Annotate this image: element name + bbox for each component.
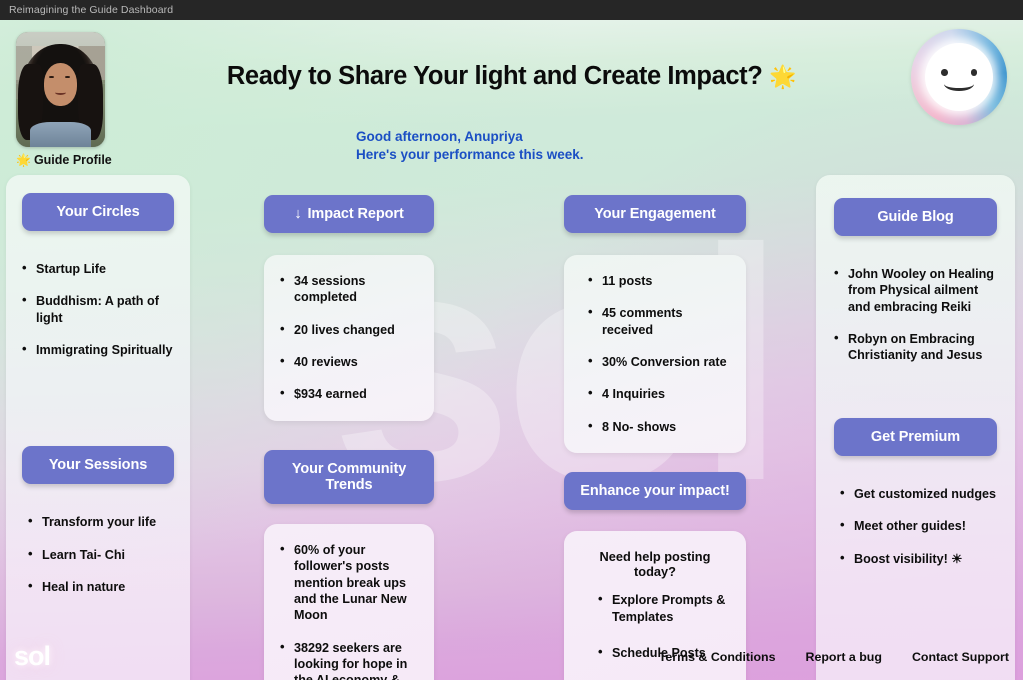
sol-smiley-logo-icon[interactable] xyxy=(911,29,1007,125)
list-item: 34 sessions completed xyxy=(280,273,418,306)
column-blog-premium: Guide Blog John Wooley on Healing from P… xyxy=(808,175,1023,680)
star-icon: 🌟 xyxy=(16,153,31,167)
enhance-impact-button[interactable]: Enhance your impact! xyxy=(564,472,746,510)
impact-report-label: Impact Report xyxy=(307,206,403,222)
list-item: Boost visibility! ☀ xyxy=(840,551,997,567)
sessions-list: Transform your life Learn Tai- Chi Heal … xyxy=(22,514,174,595)
engagement-list: 11 posts 45 comments received 30% Conver… xyxy=(580,273,730,435)
your-sessions-button[interactable]: Your Sessions xyxy=(22,446,174,484)
greeting-block: Good afternoon, Anupriya Here's your per… xyxy=(356,128,584,164)
column-engagement-enhance: Your Engagement 11 posts 45 comments rec… xyxy=(502,175,808,680)
circles-list: Startup Life Buddhism: A path of light I… xyxy=(22,261,174,358)
profile-block[interactable]: 🌟 Guide Profile xyxy=(16,32,108,167)
column-impact-trends: ↓Impact Report 34 sessions completed 20 … xyxy=(196,175,502,680)
footer-link-terms[interactable]: Terms & Conditions xyxy=(659,650,776,664)
list-item: 11 posts xyxy=(588,273,730,289)
profile-label-text: Guide Profile xyxy=(34,153,112,167)
greeting-line-2: Here's your performance this week. xyxy=(356,146,584,164)
impact-report-card: 34 sessions completed 20 lives changed 4… xyxy=(264,255,434,421)
list-item[interactable]: Startup Life xyxy=(22,261,174,277)
list-item[interactable]: Explore Prompts & Templates xyxy=(598,592,730,625)
list-item[interactable]: Learn Tai- Chi xyxy=(28,547,174,563)
page-title: Ready to Share Your light and Create Imp… xyxy=(0,62,1023,91)
dashboard-footer: sol Terms & Conditions Report a bug Cont… xyxy=(0,633,1023,680)
window-title: Reimagining the Guide Dashboard xyxy=(9,4,173,16)
column-circles-sessions: Your Circles Startup Life Buddhism: A pa… xyxy=(0,175,196,680)
list-item: 20 lives changed xyxy=(280,322,418,338)
window-titlebar: Reimagining the Guide Dashboard xyxy=(0,0,1023,20)
footer-link-report-bug[interactable]: Report a bug xyxy=(806,650,882,664)
footer-link-contact-support[interactable]: Contact Support xyxy=(912,650,1009,664)
list-item: 8 No- shows xyxy=(588,419,730,435)
list-item: 60% of your follower's posts mention bre… xyxy=(280,542,418,624)
list-item: Meet other guides! xyxy=(840,518,997,534)
list-item: 4 Inquiries xyxy=(588,386,730,402)
engagement-card: 11 posts 45 comments received 30% Conver… xyxy=(564,255,746,453)
list-item[interactable]: Robyn on Embracing Christianity and Jesu… xyxy=(834,331,997,364)
footer-links: Terms & Conditions Report a bug Contact … xyxy=(659,650,1013,664)
list-item[interactable]: Heal in nature xyxy=(28,579,174,595)
sol-wordmark[interactable]: sol xyxy=(14,643,50,670)
list-item: 40 reviews xyxy=(280,354,418,370)
list-item[interactable]: Buddhism: A path of light xyxy=(22,293,174,326)
guide-blog-list: John Wooley on Healing from Physical ail… xyxy=(834,266,997,364)
guide-blog-button[interactable]: Guide Blog xyxy=(834,198,997,236)
community-trends-button[interactable]: Your Community Trends xyxy=(264,450,434,504)
premium-list: Get customized nudges Meet other guides!… xyxy=(834,486,997,567)
impact-report-list: 34 sessions completed 20 lives changed 4… xyxy=(280,273,418,403)
list-item: Get customized nudges xyxy=(840,486,997,502)
impact-report-button[interactable]: ↓Impact Report xyxy=(264,195,434,233)
dashboard-grid: Your Circles Startup Life Buddhism: A pa… xyxy=(0,175,1023,633)
list-item[interactable]: John Wooley on Healing from Physical ail… xyxy=(834,266,997,315)
sparkle-icon: 🌟 xyxy=(769,64,796,89)
list-item[interactable]: Transform your life xyxy=(28,514,174,530)
list-item[interactable]: Immigrating Spiritually xyxy=(22,342,174,358)
enhance-subhead: Need help posting today? xyxy=(580,549,730,579)
your-engagement-button[interactable]: Your Engagement xyxy=(564,195,746,233)
download-arrow-icon: ↓ xyxy=(294,206,301,222)
dashboard-header: 🌟 Guide Profile Ready to Share Your ligh… xyxy=(0,20,1023,175)
profile-label: 🌟 Guide Profile xyxy=(16,153,108,167)
page-title-text: Ready to Share Your light and Create Imp… xyxy=(227,62,763,90)
your-circles-button[interactable]: Your Circles xyxy=(22,193,174,231)
list-item: 45 comments received xyxy=(588,305,730,338)
greeting-line-1: Good afternoon, Anupriya xyxy=(356,128,584,146)
list-item: $934 earned xyxy=(280,386,418,402)
get-premium-button[interactable]: Get Premium xyxy=(834,418,997,456)
dashboard-app: sol 🌟 Guide Profile Ready to Share Your … xyxy=(0,20,1023,680)
list-item: 30% Conversion rate xyxy=(588,354,730,370)
